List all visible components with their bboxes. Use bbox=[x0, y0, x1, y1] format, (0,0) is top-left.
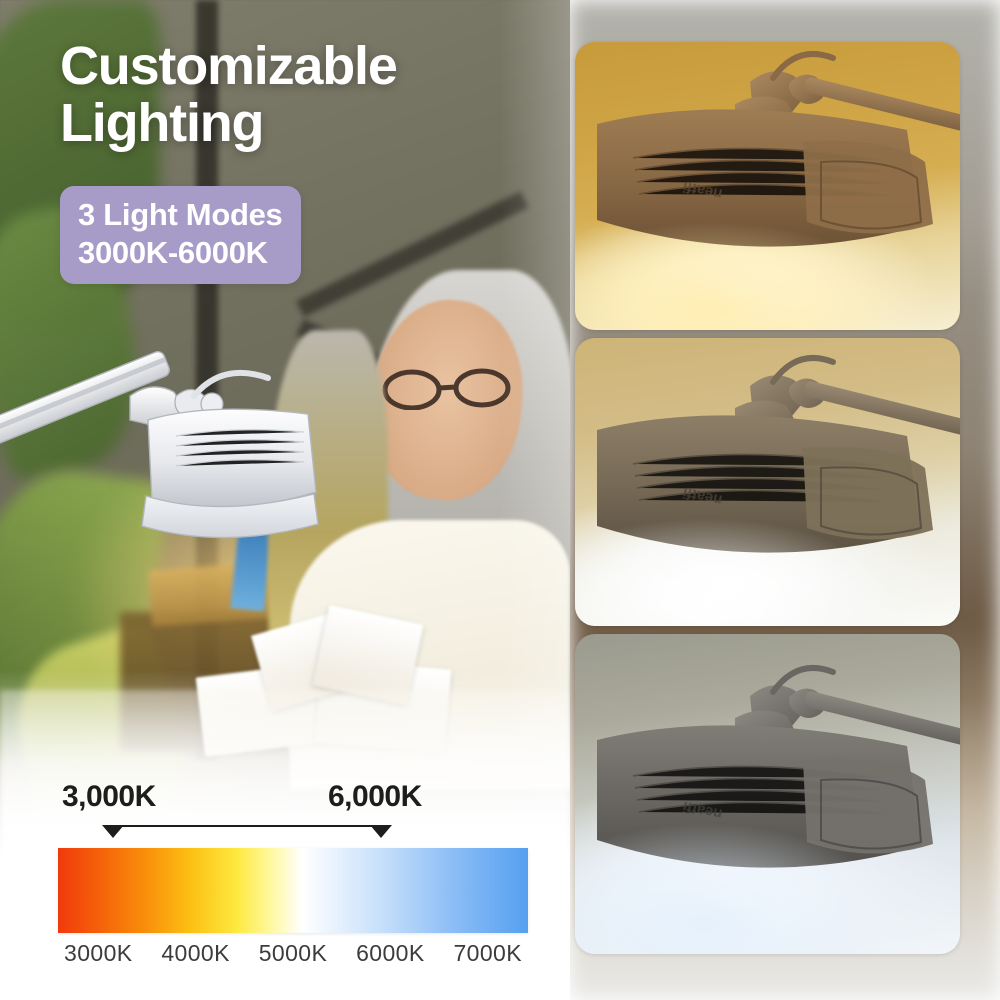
tick-label: 5000K bbox=[259, 940, 328, 967]
light-mode-panels: neatfi bbox=[570, 0, 1000, 1000]
range-marker-high-icon bbox=[370, 825, 392, 838]
range-marker-low-icon bbox=[102, 825, 124, 838]
lamp-product-daylight: neatfi bbox=[575, 634, 960, 954]
kelvin-tick-labels: 3000K 4000K 5000K 6000K 7000K bbox=[58, 940, 528, 967]
lamp-product-natural: neatfi bbox=[575, 338, 960, 626]
mode-panel-warm: neatfi bbox=[575, 42, 960, 330]
lamp-product-warm: neatfi bbox=[575, 42, 960, 330]
badge-line-2: 3000K-6000K bbox=[78, 234, 283, 272]
headline-line-2: Lighting bbox=[60, 95, 530, 152]
eyeglasses bbox=[378, 368, 518, 410]
color-temperature-scale: 3,000K 6,000K 3000K 4000K 5000K 6000K 70… bbox=[0, 780, 570, 995]
tick-label: 7000K bbox=[453, 940, 522, 967]
tick-label: 6000K bbox=[356, 940, 425, 967]
mode-panel-natural: neatfi bbox=[575, 338, 960, 626]
range-high-label: 6,000K bbox=[328, 780, 422, 814]
headline-line-1: Customizable bbox=[60, 38, 530, 95]
product-infographic: neatfi Customizable Lighting 3 Light Mod… bbox=[0, 0, 1000, 1000]
tick-label: 4000K bbox=[161, 940, 230, 967]
lamp-product-white: neatfi bbox=[0, 300, 320, 560]
range-connector-line bbox=[113, 825, 381, 827]
badge-line-1: 3 Light Modes bbox=[78, 196, 283, 234]
page-title: Customizable Lighting bbox=[60, 38, 530, 152]
range-low-label: 3,000K bbox=[62, 780, 156, 814]
mode-panel-daylight: neatfi bbox=[575, 634, 960, 954]
tick-label: 3000K bbox=[64, 940, 133, 967]
kelvin-gradient-bar bbox=[58, 848, 528, 933]
range-labels: 3,000K 6,000K bbox=[0, 780, 570, 820]
light-modes-badge: 3 Light Modes 3000K-6000K bbox=[60, 186, 301, 284]
